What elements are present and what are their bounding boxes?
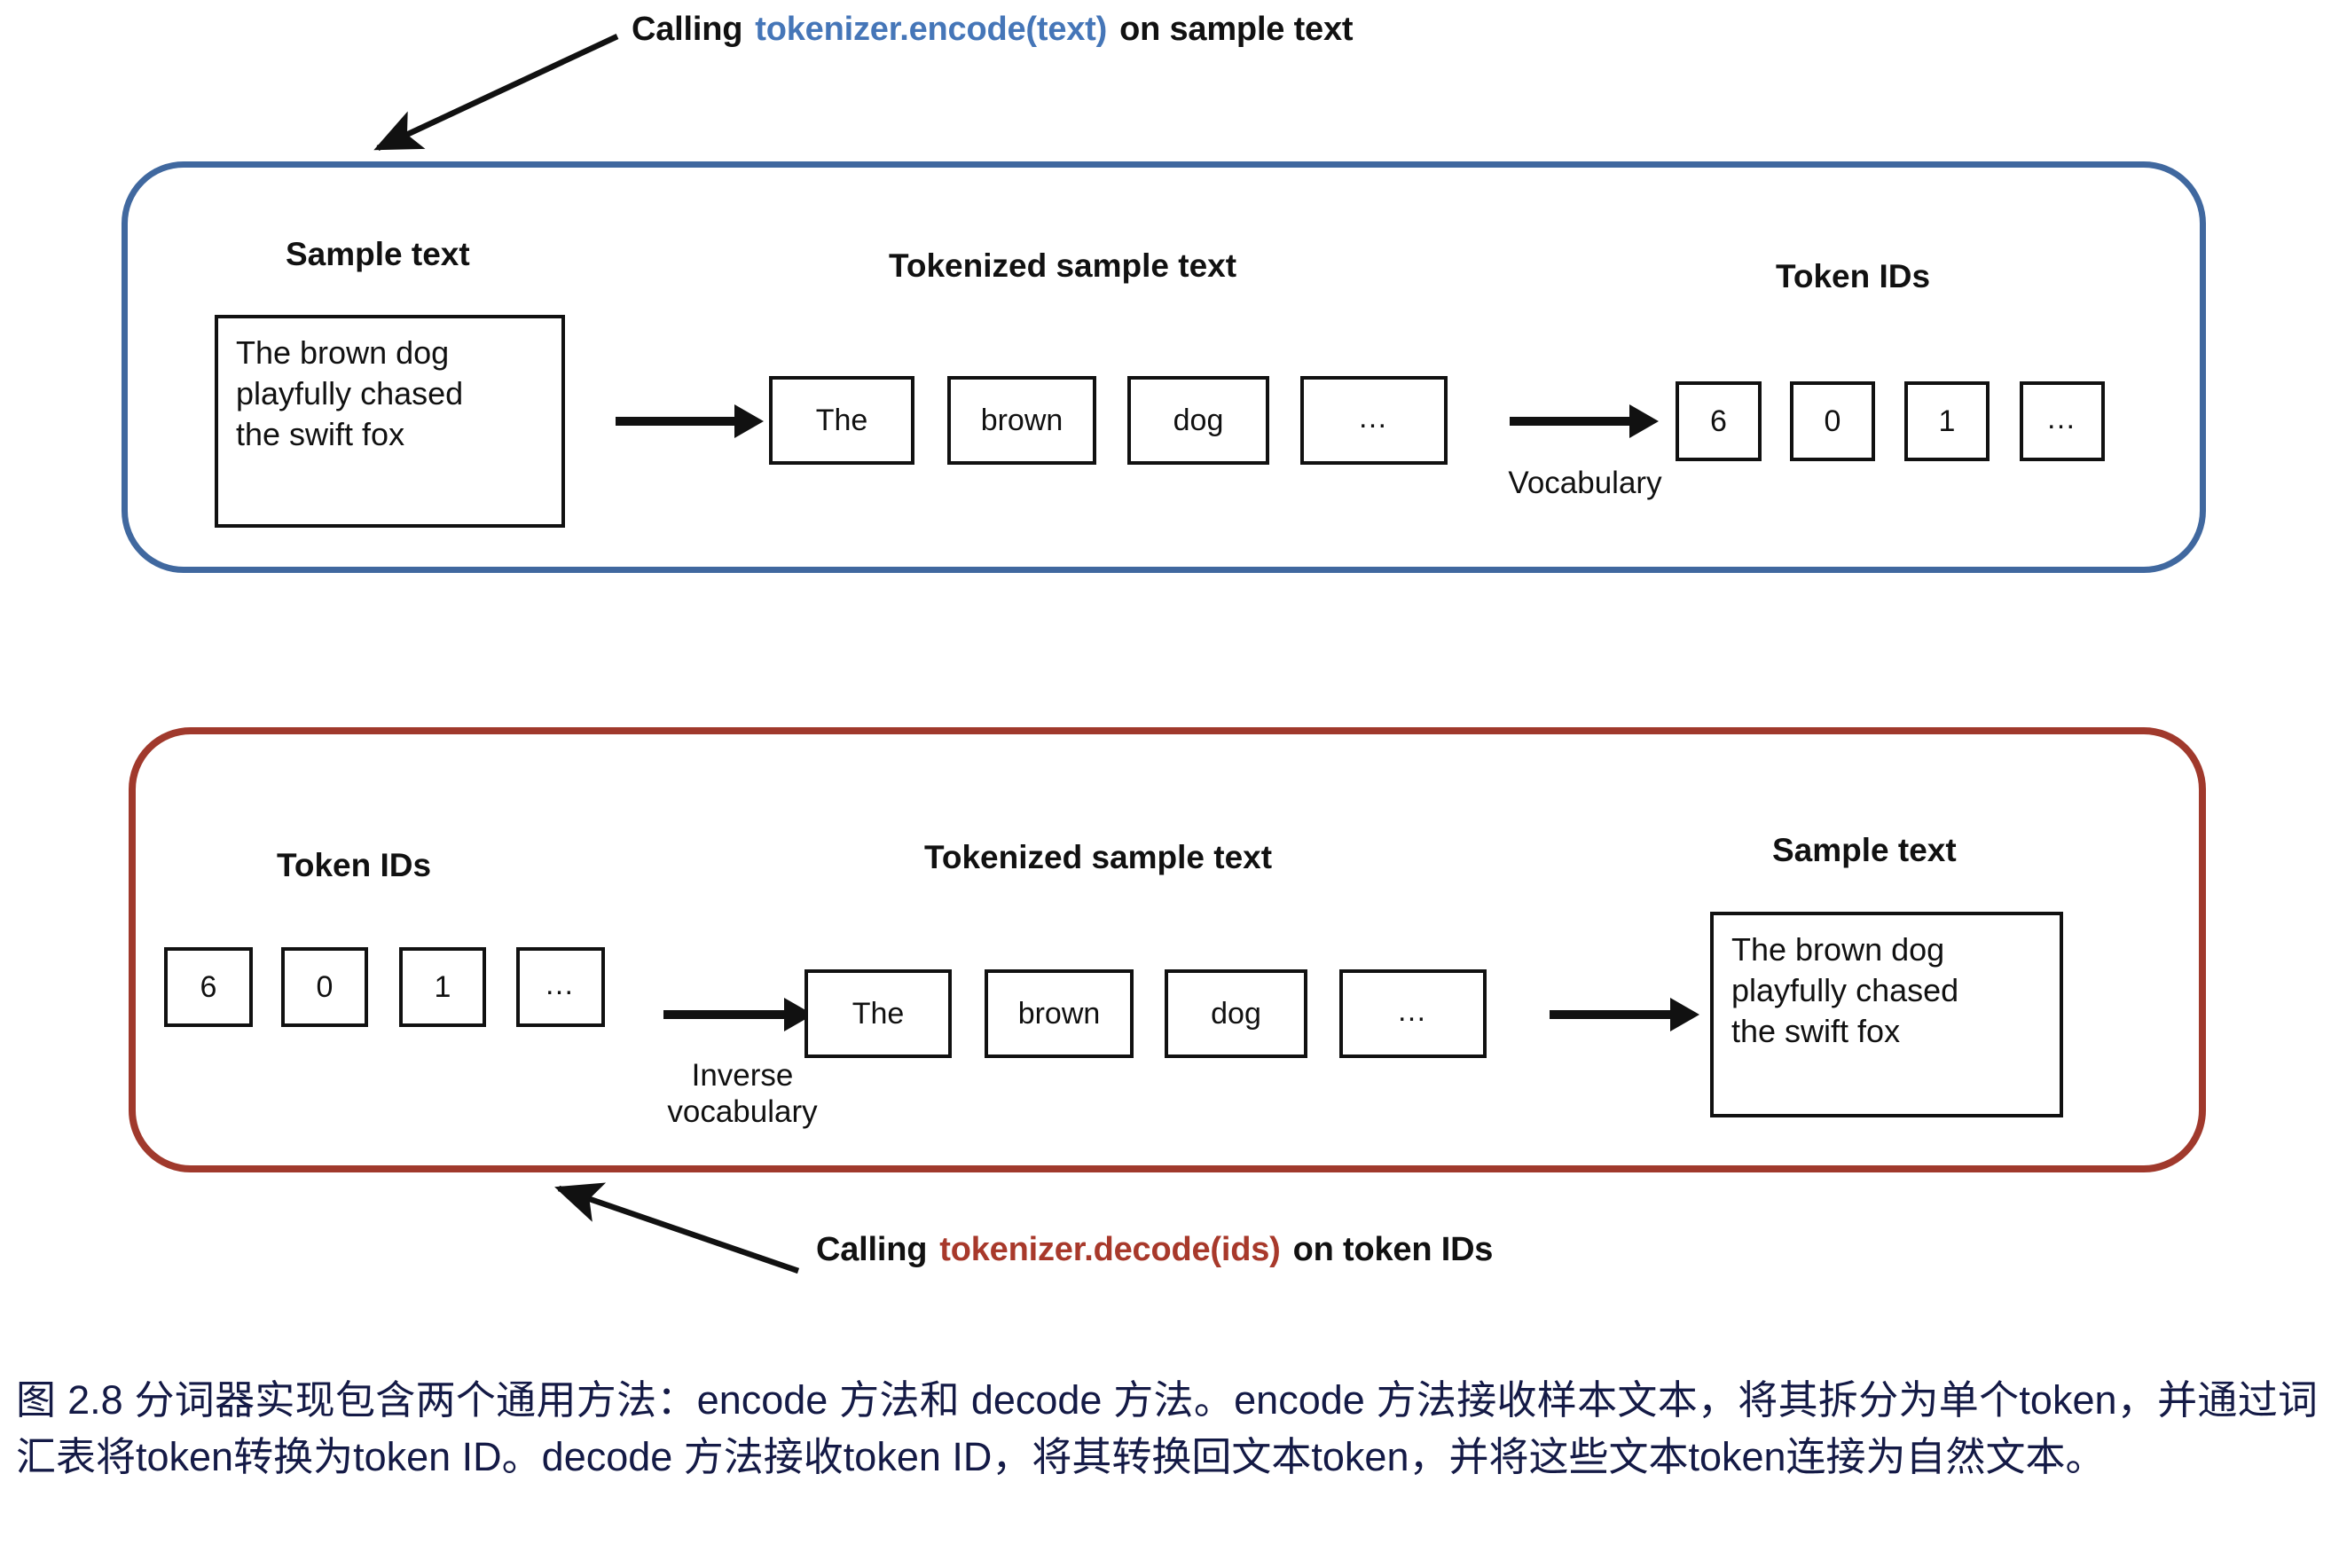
decode-token-id-box-2: 1 [399, 947, 486, 1027]
decode-arrow-label-inverse-vocabulary: Inverse vocabulary [596, 1057, 889, 1131]
decode-callout-prefix: Calling [816, 1231, 927, 1268]
encode-token-id-box-3: … [2020, 381, 2105, 461]
decode-callout: Callingtokenizer.decode(ids)on token IDs [816, 1231, 1493, 1269]
decode-heading-token-ids: Token IDs [277, 847, 431, 884]
encode-token-box-0: The [769, 376, 914, 465]
decode-token-id-box-3: … [516, 947, 605, 1027]
decode-token-box-1: brown [985, 969, 1134, 1058]
encode-token-id-box-2: 1 [1904, 381, 1990, 461]
decode-heading-tokenized: Tokenized sample text [924, 839, 1272, 876]
encode-callout-suffix: on sample text [1119, 11, 1353, 48]
encode-token-id-box-1: 0 [1790, 381, 1875, 461]
decode-token-box-0: The [804, 969, 952, 1058]
decode-callout-suffix: on token IDs [1293, 1231, 1494, 1268]
decode-callout-code: tokenizer.decode(ids) [939, 1231, 1280, 1268]
encode-heading-sample-text: Sample text [286, 236, 470, 273]
encode-callout: Callingtokenizer.encode(text)on sample t… [632, 11, 1353, 49]
decode-sample-text-box: The brown dog playfully chased the swift… [1710, 912, 2063, 1117]
encode-sample-text-box: The brown dog playfully chased the swift… [215, 315, 565, 528]
decode-token-box-2: dog [1165, 969, 1307, 1058]
encode-token-box-3: … [1300, 376, 1448, 465]
encode-heading-token-ids: Token IDs [1776, 258, 1930, 295]
encode-heading-tokenized: Tokenized sample text [889, 247, 1236, 285]
decode-heading-sample-text: Sample text [1772, 832, 1957, 869]
decode-token-id-box-0: 6 [164, 947, 253, 1027]
decode-callout-arrow [532, 1171, 834, 1286]
encode-arrow-label-vocabulary: Vocabulary [1439, 465, 1731, 501]
decode-token-box-3: … [1339, 969, 1487, 1058]
encode-callout-prefix: Calling [632, 11, 742, 48]
encode-token-box-1: brown [947, 376, 1096, 465]
figure-canvas: Callingtokenizer.encode(text)on sample t… [0, 0, 2331, 1568]
encode-token-id-box-0: 6 [1676, 381, 1762, 461]
encode-callout-arrow [355, 18, 647, 169]
encode-token-box-2: dog [1127, 376, 1269, 465]
decode-token-id-box-1: 0 [281, 947, 368, 1027]
figure-caption: 图 2.8 分词器实现包含两个通用方法：encode 方法和 decode 方法… [16, 1372, 2318, 1486]
encode-callout-code: tokenizer.encode(text) [755, 11, 1107, 48]
